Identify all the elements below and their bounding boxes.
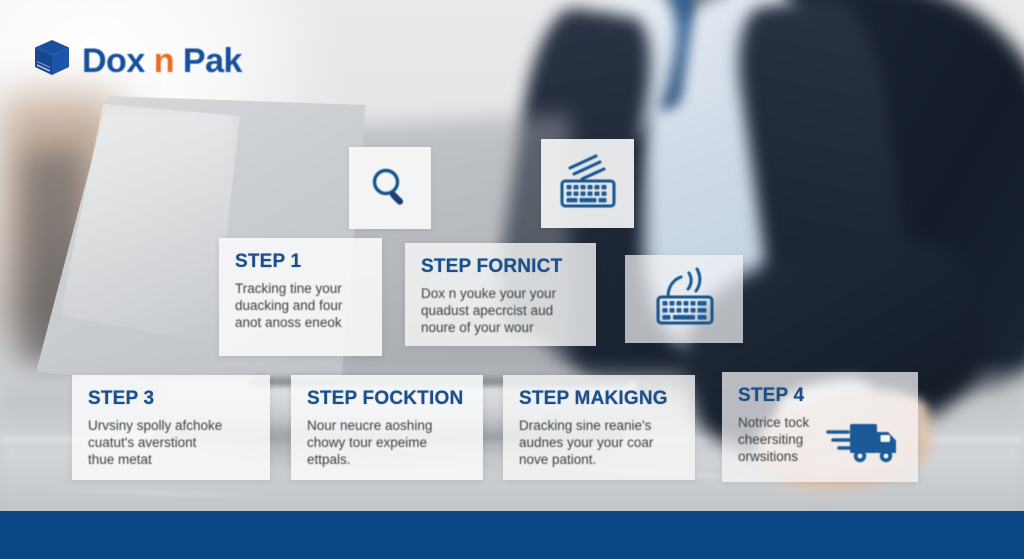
logo-text-n: n — [154, 42, 174, 80]
step-card-body: Dox n youke your your quadust apecrcist … — [421, 285, 580, 337]
step-card-line: nove pationt. — [519, 451, 679, 468]
step-card-line: audnes your your coar — [519, 434, 679, 451]
step-card-line: Dox n youke your your — [421, 285, 580, 302]
step-card-line: thue metat — [88, 451, 254, 468]
wireless-keyboard-icon-tile[interactable] — [625, 255, 743, 343]
step-card-title: STEP FOCKTION — [307, 389, 467, 410]
step-card-title: STEP 1 — [235, 252, 366, 273]
search-icon-tile[interactable] — [349, 147, 431, 229]
step-card-line: cuatut's averstiont — [88, 434, 254, 451]
step-card[interactable]: STEP FOCKTION Nour neucre aoshing chowy … — [291, 375, 483, 480]
step-card-title: STEP 4 — [738, 386, 902, 407]
step-card-title: STEP FORNICT — [421, 257, 580, 278]
keyboard-icon — [556, 152, 620, 215]
logo-text-dox: Dox — [82, 42, 145, 80]
step-card-body: Dracking sine reanie's audnes your your … — [519, 417, 679, 469]
step-card-line: Urvsiny spolly afchoke — [88, 417, 254, 434]
step-card-body: Tracking tine your duacking and four ano… — [235, 280, 366, 332]
brand-logo[interactable]: Dox n Pak — [33, 38, 242, 83]
delivery-truck-icon-wrap — [826, 418, 900, 471]
step-card-line: Nour neucre aoshing — [307, 417, 467, 434]
step-card-line: Dracking sine reanie's — [519, 417, 679, 434]
step-card-line: Tracking tine your — [235, 280, 366, 297]
search-icon — [367, 163, 413, 214]
box-icon — [33, 38, 71, 83]
step-card[interactable]: STEP 1 Tracking tine your duacking and f… — [219, 238, 382, 356]
step-card-title: STEP 3 — [88, 389, 254, 410]
step-card-line: ettpals. — [307, 451, 467, 468]
step-card-line: anot anoss eneok — [235, 314, 366, 331]
step-card-line: duacking and four — [235, 297, 366, 314]
step-card[interactable]: STEP 3 Urvsiny spolly afchoke cuatut's a… — [72, 375, 270, 480]
step-card-line: chowy tour expeime — [307, 434, 467, 451]
step-card[interactable]: STEP MAKIGNG Dracking sine reanie's audn… — [503, 375, 695, 480]
delivery-truck-icon — [826, 453, 900, 470]
step-card-line: noure of your wour — [421, 319, 580, 336]
bottom-bar — [0, 511, 1024, 559]
wireless-keyboard-icon — [648, 267, 720, 332]
step-card[interactable]: STEP FORNICT Dox n youke your your quadu… — [405, 243, 596, 346]
step-card-body: Urvsiny spolly afchoke cuatut's averstio… — [88, 417, 254, 469]
keyboard-icon-tile[interactable] — [541, 139, 634, 228]
step-card-title: STEP MAKIGNG — [519, 389, 679, 410]
step-card-body: Nour neucre aoshing chowy tour expeime e… — [307, 417, 467, 469]
step-card-line: quadust apecrcist aud — [421, 302, 580, 319]
logo-text-pak: Pak — [183, 42, 242, 80]
